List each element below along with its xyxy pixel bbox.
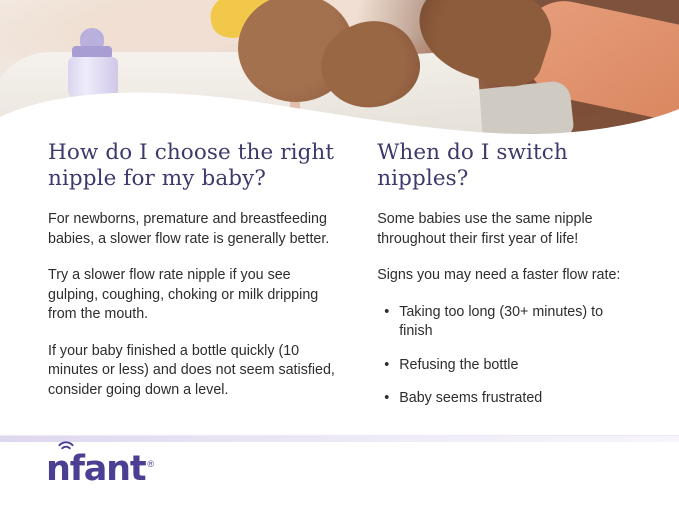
signs-list: Taking too long (30+ minutes) to finish … [377,303,631,409]
heading-switch-nipples: When do I switch nipples? [377,140,631,192]
footer: nfant ® [0,435,679,514]
column-choose-nipple: How do I choose the right nipple for my … [48,140,337,423]
paragraph-choose-3: If your baby finished a bottle quickly (… [48,342,337,401]
brand-name: nfant [46,452,145,487]
two-column-layout: How do I choose the right nipple for my … [0,140,679,423]
paragraph-choose-2: Try a slower flow rate nipple if you see… [48,266,337,325]
article-content: How do I choose the right nipple for my … [0,140,679,423]
column-switch-nipples: When do I switch nipples? Some babies us… [377,140,631,423]
page: How do I choose the right nipple for my … [0,0,679,514]
paragraph-switch-1: Some babies use the same nipple througho… [377,210,631,249]
paragraph-switch-2: Signs you may need a faster flow rate: [377,266,631,286]
hero-wave-divider [0,87,679,145]
registered-trademark-icon: ® [147,459,154,469]
hero-photo [0,0,679,145]
brand-logo: nfant ® [46,452,154,487]
list-item: Refusing the bottle [399,356,631,376]
wifi-icon [58,441,74,453]
list-item: Baby seems frustrated [399,389,631,409]
paragraph-choose-1: For newborns, premature and breastfeedin… [48,210,337,249]
footer-accent-band [0,436,679,442]
heading-choose-nipple: How do I choose the right nipple for my … [48,140,337,192]
list-item: Taking too long (30+ minutes) to finish [399,303,631,342]
